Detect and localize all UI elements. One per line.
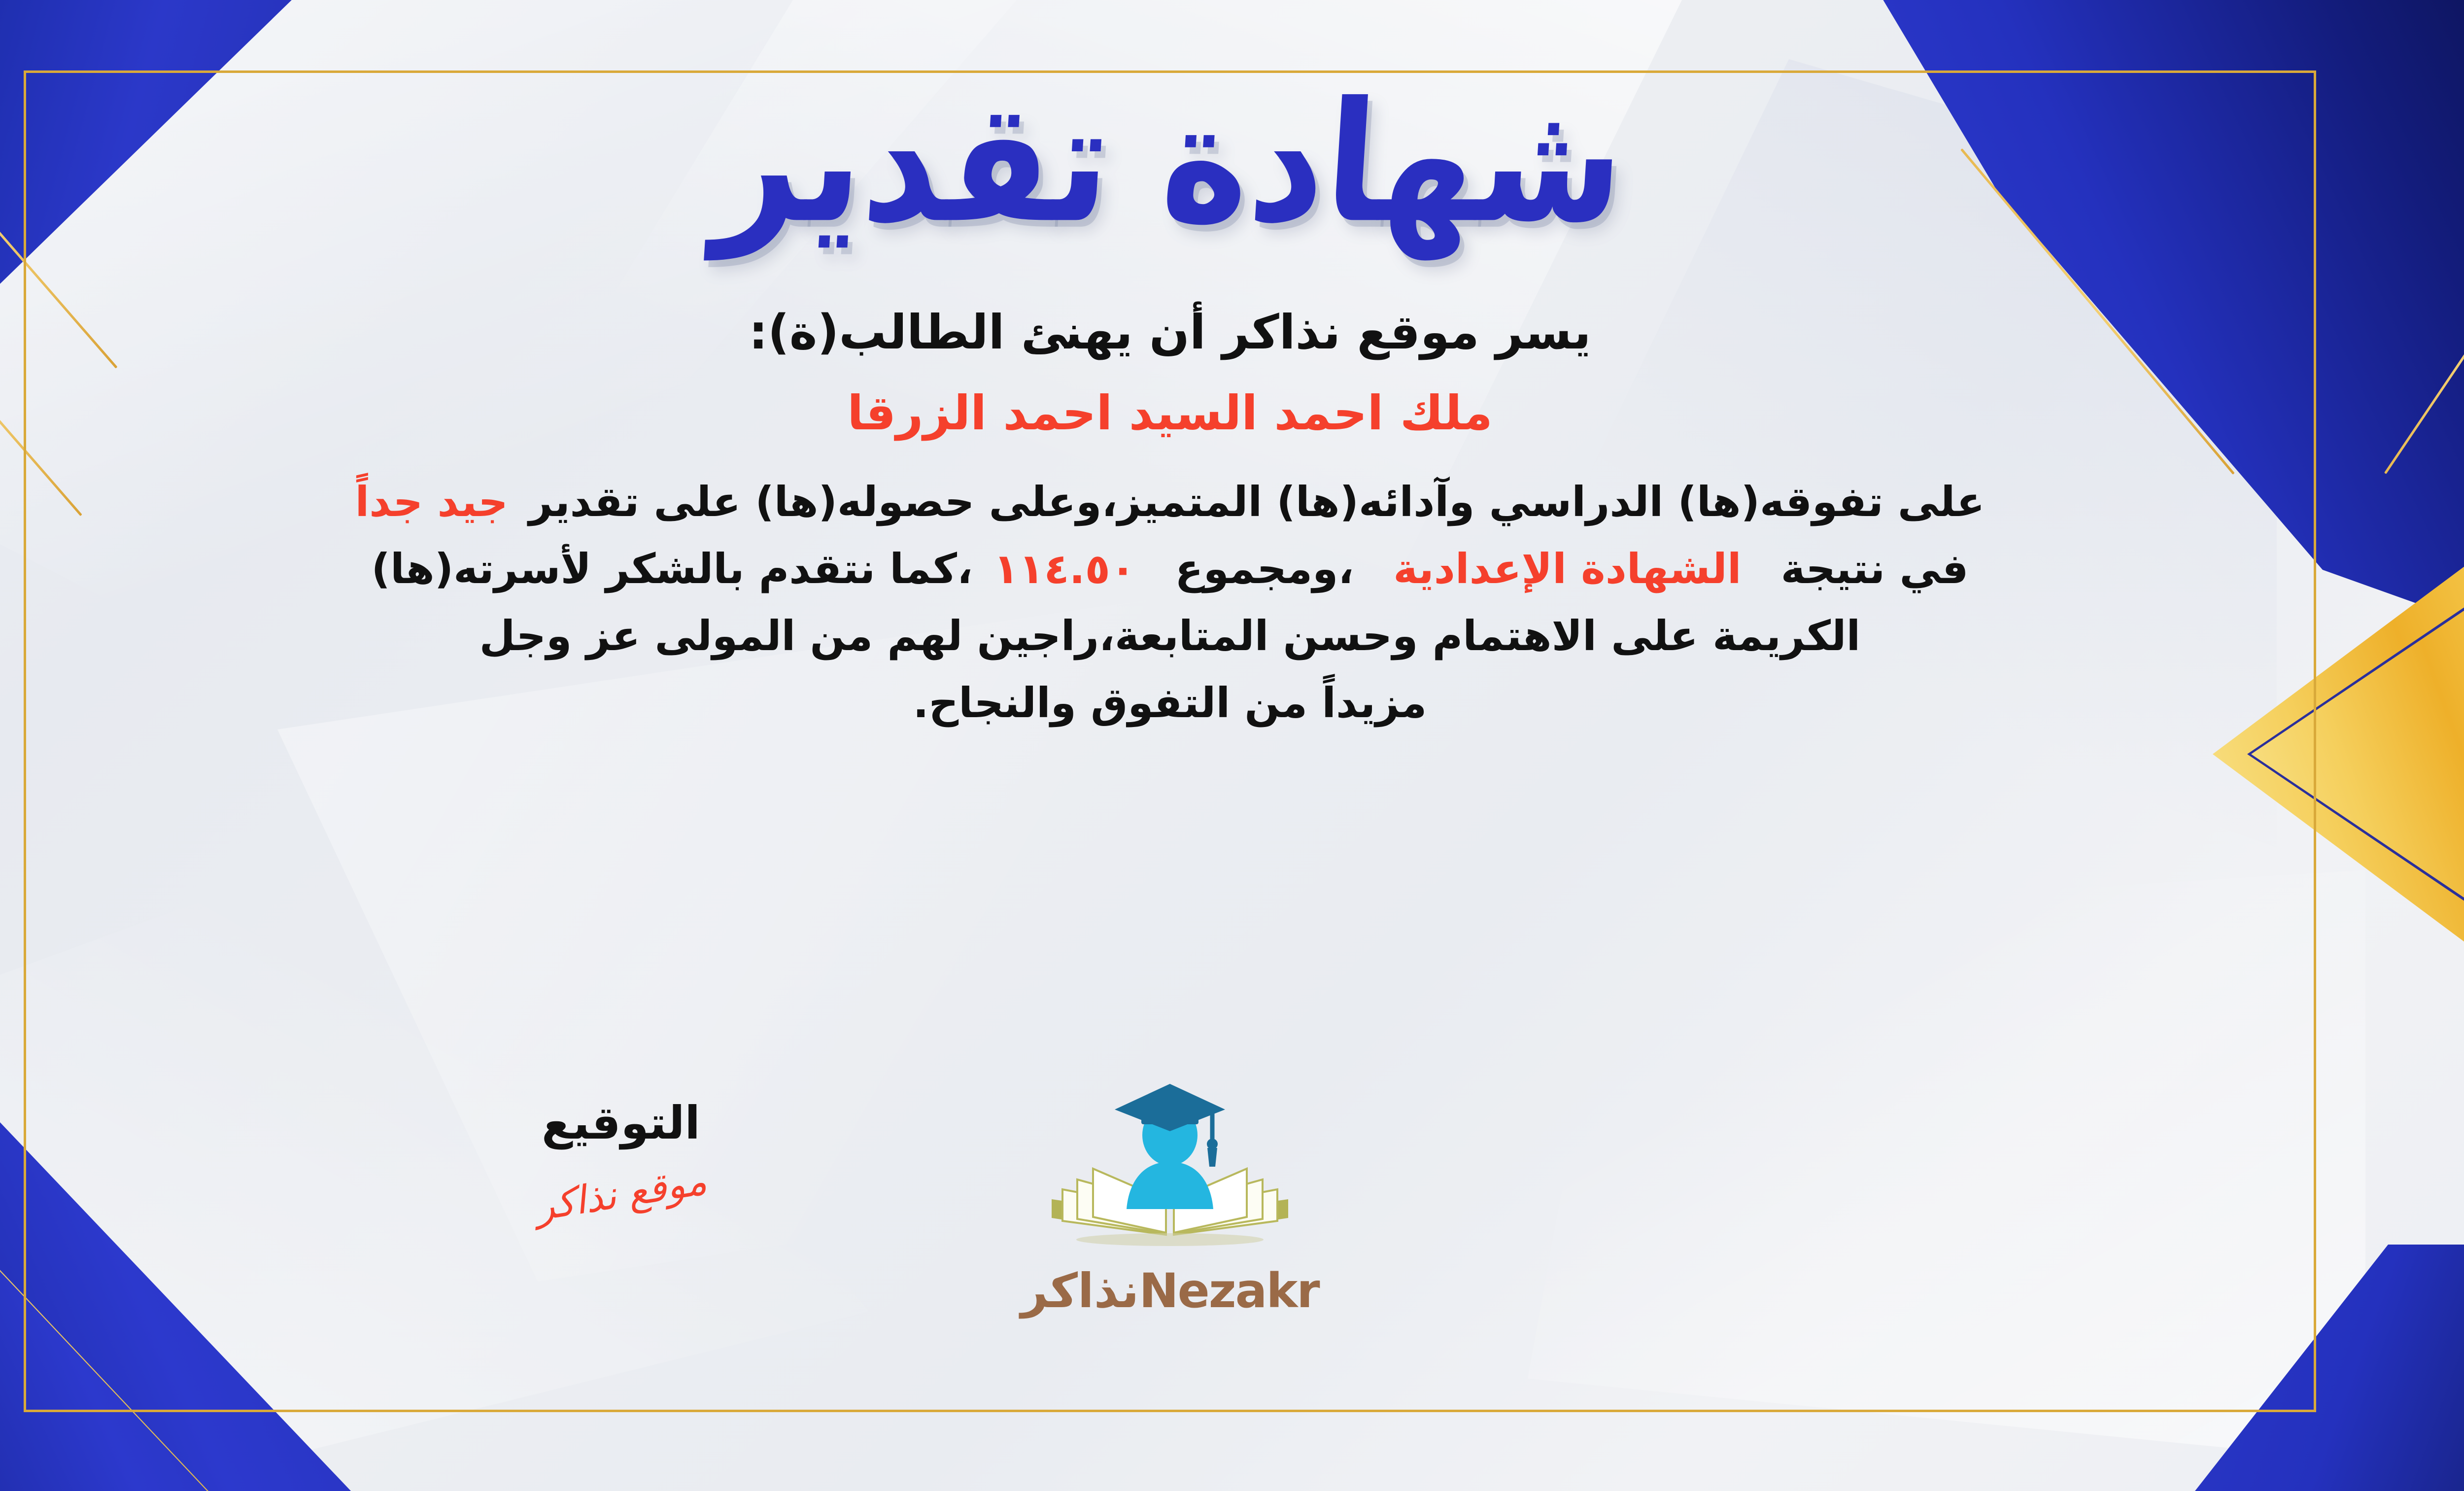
gold-hairline: [2384, 244, 2464, 474]
body-line-1: على تفوقه(ها) الدراسي وآدائه(ها) المتميز…: [73, 468, 2266, 535]
congratulation-line: يسر موقع نذاكر أن يهنئ الطالب(ة):: [749, 305, 1591, 360]
exam-name: الشهادة الإعدادية: [1393, 545, 1741, 593]
body-text-total-label: ،ومجموع: [1175, 545, 1354, 593]
gold-chevron-outline: [0, 1442, 70, 1491]
certificate-footer: التوقيع موقع نذاكر: [24, 1077, 2316, 1392]
body-text-thanks: ،كما نتقدم بالشكر لأسرته(ها): [372, 545, 973, 593]
student-name: ملك احمد السيد احمد الزرقا: [847, 385, 1493, 441]
body-text-result-prefix: في نتيجة: [1781, 545, 1969, 593]
body-line-3: الكريمة على الاهتمام وحسن المتابعة،راجين…: [73, 602, 2266, 669]
logo-wordmark: Nezakrنذاكر: [948, 1263, 1392, 1318]
signature-label: التوقيع: [434, 1097, 808, 1149]
certificate-content: شهادة تقدير يسر موقع نذاكر أن يهنئ الطال…: [24, 70, 2316, 1412]
grade-value: جيد جداً: [355, 478, 508, 526]
gold-chevron-inner-gap: [0, 1451, 69, 1491]
certificate-body: على تفوقه(ها) الدراسي وآدائه(ها) المتميز…: [73, 468, 2266, 736]
body-text-achievement: على تفوقه(ها) الدراسي وآدائه(ها) المتميز…: [529, 478, 1985, 526]
site-logo: Nezakrنذاكر: [948, 1077, 1392, 1318]
graduate-book-icon: [1032, 1077, 1308, 1264]
signature-mark: موقع نذاكر: [532, 1159, 710, 1230]
certificate-title: شهادة تقدير: [711, 76, 1629, 250]
signature-block: التوقيع موقع نذاكر: [434, 1097, 808, 1216]
certificate-canvas: شهادة تقدير يسر موقع نذاكر أن يهنئ الطال…: [0, 0, 2464, 1491]
body-line-2: في نتيجةالشهادة الإعدادية،ومجموع١١٤.٥٠،ك…: [73, 535, 2266, 602]
logo-wordmark-arabic: نذاكر: [1021, 1263, 1139, 1318]
logo-wordmark-latin: Nezakr: [1139, 1263, 1319, 1318]
total-score-value: ١١٤.٥٠: [993, 545, 1135, 593]
body-line-4: مزيداً من التفوق والنجاح.: [73, 669, 2266, 736]
